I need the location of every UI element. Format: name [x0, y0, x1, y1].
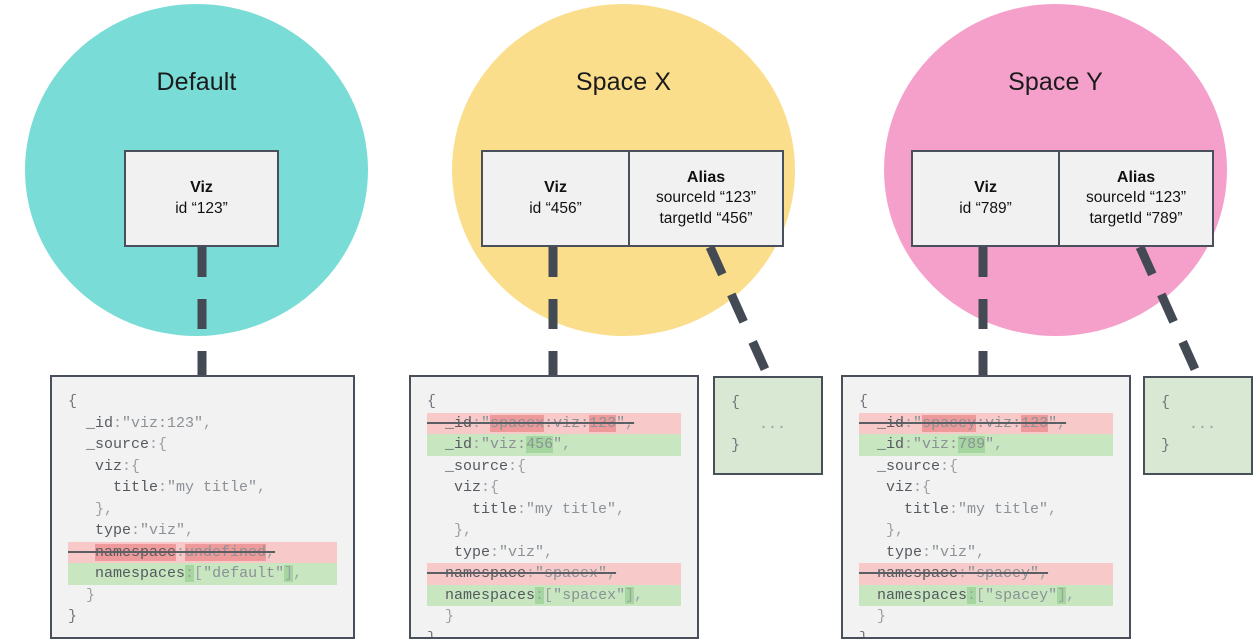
- code-token: title: [859, 501, 949, 518]
- code-token: :viz:: [544, 415, 589, 432]
- code-line: _source:{: [859, 456, 1113, 478]
- space-label-spacex: Space X: [452, 68, 795, 97]
- code-token: ,: [1066, 587, 1075, 604]
- code-token: ,: [1057, 415, 1066, 432]
- code-token: "my title": [167, 479, 257, 496]
- code-token: viz: [427, 479, 481, 496]
- document-spacex: { _id:"spacex:viz:123", _id:"viz:456", _…: [409, 375, 699, 639]
- code-line: title:"my title",: [68, 477, 337, 499]
- code-token: [: [194, 565, 203, 582]
- code-token: }: [859, 608, 886, 625]
- code-token: 789: [958, 436, 985, 453]
- code-token: [859, 436, 877, 453]
- code-token: :{: [508, 458, 526, 475]
- code-token: [859, 565, 877, 582]
- code-token: :: [113, 415, 122, 432]
- code-line: }: [731, 435, 805, 457]
- document-spacex-alias: {...}: [713, 376, 823, 475]
- code-token: spacex: [490, 415, 544, 432]
- code-token: }: [68, 608, 77, 625]
- entity-title: Alias: [1117, 167, 1155, 189]
- code-line: type:"viz",: [68, 520, 337, 542]
- entity-field-targetid: targetId “456”: [659, 209, 752, 230]
- code-token: _id: [877, 415, 904, 432]
- code-token: },: [859, 522, 904, 539]
- code-token: ": [553, 436, 562, 453]
- code-line: _id:"viz:789",: [859, 434, 1113, 456]
- entity-row-default[interactable]: Viz id “123”: [124, 150, 279, 247]
- code-token: ]: [1057, 587, 1066, 604]
- code-line: _id:"viz:456",: [427, 434, 681, 456]
- code-line: namespace:"spacey",: [859, 563, 1113, 585]
- code-token: viz: [859, 479, 913, 496]
- code-token: :: [535, 587, 544, 604]
- code-token: :: [472, 415, 481, 432]
- code-token: "default": [203, 565, 284, 582]
- code-token: [427, 587, 445, 604]
- code-line: }: [859, 628, 1113, 640]
- code-token: ,: [625, 415, 634, 432]
- code-token: :: [949, 501, 958, 518]
- entity-field-sourceid: sourceId “123”: [1086, 188, 1186, 209]
- code-token: :: [176, 544, 185, 561]
- code-line: },: [859, 520, 1113, 542]
- code-line: _id:"spacey:viz:123",: [859, 413, 1113, 435]
- code-line: title:"my title",: [427, 499, 681, 521]
- code-token: "viz:: [913, 436, 958, 453]
- code-token: ,: [976, 544, 985, 561]
- code-token: :: [958, 565, 967, 582]
- code-token: :{: [149, 436, 167, 453]
- code-token: ,: [994, 436, 1003, 453]
- code-token: undefined: [185, 544, 266, 561]
- code-line: title:"my title",: [859, 499, 1113, 521]
- code-token: _id: [445, 436, 472, 453]
- code-token: "spacey": [967, 565, 1039, 582]
- code-token: namespace: [877, 565, 958, 582]
- code-token: viz: [68, 458, 122, 475]
- code-token: namespaces: [95, 565, 185, 582]
- code-token: _id: [877, 436, 904, 453]
- code-token: :: [158, 479, 167, 496]
- code-line: namespaces:["spacey"],: [859, 585, 1113, 607]
- code-line: }: [1161, 435, 1235, 457]
- code-token: type: [427, 544, 490, 561]
- code-token: :viz:: [976, 415, 1021, 432]
- code-line: {: [859, 391, 1113, 413]
- code-line: _id:"viz:123",: [68, 413, 337, 435]
- document-default: { _id:"viz:123", _source:{ viz:{ title:"…: [50, 375, 355, 639]
- code-token: [859, 415, 877, 432]
- code-token: _id: [445, 415, 472, 432]
- code-token: "spacex": [553, 587, 625, 604]
- code-token: :: [904, 415, 913, 432]
- code-token: "my title": [526, 501, 616, 518]
- code-line: _source:{: [68, 434, 337, 456]
- code-token: ,: [266, 544, 275, 561]
- code-line: {: [427, 391, 681, 413]
- code-token: ": [985, 436, 994, 453]
- code-token: namespace: [445, 565, 526, 582]
- entity-cell-viz[interactable]: Viz id “456”: [483, 152, 628, 245]
- entity-field: id “456”: [529, 199, 582, 220]
- entity-cell-alias[interactable]: Alias sourceId “123” targetId “456”: [628, 152, 782, 245]
- code-token: [859, 587, 877, 604]
- code-token: :{: [481, 479, 499, 496]
- code-token: ,: [203, 415, 212, 432]
- code-token: :: [472, 436, 481, 453]
- code-line: {: [68, 391, 337, 413]
- code-token: },: [427, 522, 472, 539]
- code-line: },: [427, 520, 681, 542]
- entity-cell-viz[interactable]: Viz id “789”: [913, 152, 1058, 245]
- code-token: "viz:: [481, 436, 526, 453]
- code-line: }: [427, 606, 681, 628]
- code-token: 456: [526, 436, 553, 453]
- code-token: ,: [544, 544, 553, 561]
- code-line: _source:{: [427, 456, 681, 478]
- code-token: _source: [427, 458, 508, 475]
- code-token: ,: [293, 565, 302, 582]
- code-token: }: [731, 437, 740, 454]
- code-token: :{: [913, 479, 931, 496]
- code-token: spacey: [922, 415, 976, 432]
- code-token: title: [427, 501, 517, 518]
- code-token: _id: [68, 415, 113, 432]
- code-token: [427, 415, 445, 432]
- code-line: {: [1161, 392, 1235, 414]
- code-line: namespace:undefined,: [68, 542, 337, 564]
- code-token: ,: [562, 436, 571, 453]
- code-token: {: [731, 394, 740, 411]
- entity-title: Viz: [190, 177, 213, 199]
- code-line: ...: [1161, 414, 1235, 436]
- code-token: namespace: [95, 544, 176, 561]
- entity-cell-alias[interactable]: Alias sourceId “123” targetId “789”: [1058, 152, 1212, 245]
- code-token: }: [427, 608, 454, 625]
- code-token: :: [967, 587, 976, 604]
- code-token: "viz": [499, 544, 544, 561]
- code-line: namespaces:["spacex"],: [427, 585, 681, 607]
- code-token: :: [185, 565, 194, 582]
- code-token: {: [1161, 394, 1170, 411]
- code-line: viz:{: [68, 456, 337, 478]
- code-token: "viz": [931, 544, 976, 561]
- code-token: :: [517, 501, 526, 518]
- code-token: [68, 544, 95, 561]
- code-token: :: [490, 544, 499, 561]
- code-token: :: [526, 565, 535, 582]
- code-token: }: [427, 630, 436, 640]
- code-token: "my title": [958, 501, 1048, 518]
- entity-field: id “789”: [959, 199, 1012, 220]
- code-token: }: [68, 587, 95, 604]
- code-token: _source: [68, 436, 149, 453]
- code-token: namespaces: [877, 587, 967, 604]
- entity-field-sourceid: sourceId “123”: [656, 188, 756, 209]
- code-line: },: [68, 499, 337, 521]
- code-token: [427, 565, 445, 582]
- code-line: }: [859, 606, 1113, 628]
- code-token: ,: [634, 587, 643, 604]
- code-line: {: [731, 392, 805, 414]
- code-token: ,: [185, 522, 194, 539]
- code-token: ,: [607, 565, 616, 582]
- code-token: ,: [616, 501, 625, 518]
- entity-cell-viz[interactable]: Viz id “123”: [126, 152, 277, 245]
- code-token: type: [859, 544, 922, 561]
- document-spacey-alias: {...}: [1143, 376, 1253, 475]
- code-token: ,: [257, 479, 266, 496]
- code-token: ": [481, 415, 490, 432]
- code-line: namespaces:["default"],: [68, 563, 337, 585]
- code-token: ,: [1039, 565, 1048, 582]
- code-token: }: [859, 630, 868, 640]
- entity-row-spacex[interactable]: Viz id “456” Alias sourceId “123” target…: [481, 150, 784, 247]
- code-line: namespace:"spacex",: [427, 563, 681, 585]
- code-token: 123: [589, 415, 616, 432]
- code-line: viz:{: [427, 477, 681, 499]
- code-token: ": [913, 415, 922, 432]
- entity-title: Viz: [974, 177, 997, 199]
- entity-row-spacey[interactable]: Viz id “789” Alias sourceId “123” target…: [911, 150, 1214, 247]
- code-line: type:"viz",: [427, 542, 681, 564]
- code-token: {: [859, 393, 868, 410]
- code-token: {: [427, 393, 436, 410]
- code-line: ...: [731, 414, 805, 436]
- document-spacey: { _id:"spacey:viz:123", _id:"viz:789", _…: [841, 375, 1131, 639]
- code-token: :: [922, 544, 931, 561]
- code-token: :: [904, 436, 913, 453]
- code-token: "viz:123": [122, 415, 203, 432]
- code-line: viz:{: [859, 477, 1113, 499]
- code-token: ]: [284, 565, 293, 582]
- code-token: [: [976, 587, 985, 604]
- code-token: namespaces: [445, 587, 535, 604]
- code-token: :{: [940, 458, 958, 475]
- code-token: _source: [859, 458, 940, 475]
- code-line: }: [427, 628, 681, 640]
- space-label-spacey: Space Y: [884, 68, 1227, 97]
- code-token: },: [68, 501, 113, 518]
- code-token: title: [68, 479, 158, 496]
- entity-field-targetid: targetId “789”: [1089, 209, 1182, 230]
- code-token: ,: [1048, 501, 1057, 518]
- code-token: "spacey": [985, 587, 1057, 604]
- code-token: "spacex": [535, 565, 607, 582]
- code-line: _id:"spacex:viz:123",: [427, 413, 681, 435]
- code-token: ": [1048, 415, 1057, 432]
- code-token: :: [131, 522, 140, 539]
- entity-title: Alias: [687, 167, 725, 189]
- code-token: [68, 565, 95, 582]
- code-token: [: [544, 587, 553, 604]
- code-token: type: [68, 522, 131, 539]
- entity-field: id “123”: [175, 199, 228, 220]
- code-token: ": [616, 415, 625, 432]
- code-token: ...: [759, 416, 786, 433]
- code-token: ...: [1189, 416, 1216, 433]
- code-token: {: [68, 393, 77, 410]
- code-token: [427, 436, 445, 453]
- code-token: ]: [625, 587, 634, 604]
- code-line: }: [68, 585, 337, 607]
- code-token: "viz": [140, 522, 185, 539]
- code-line: }: [68, 606, 337, 628]
- code-token: }: [1161, 437, 1170, 454]
- space-label-default: Default: [25, 68, 368, 97]
- entity-title: Viz: [544, 177, 567, 199]
- code-line: type:"viz",: [859, 542, 1113, 564]
- code-token: :{: [122, 458, 140, 475]
- code-token: 123: [1021, 415, 1048, 432]
